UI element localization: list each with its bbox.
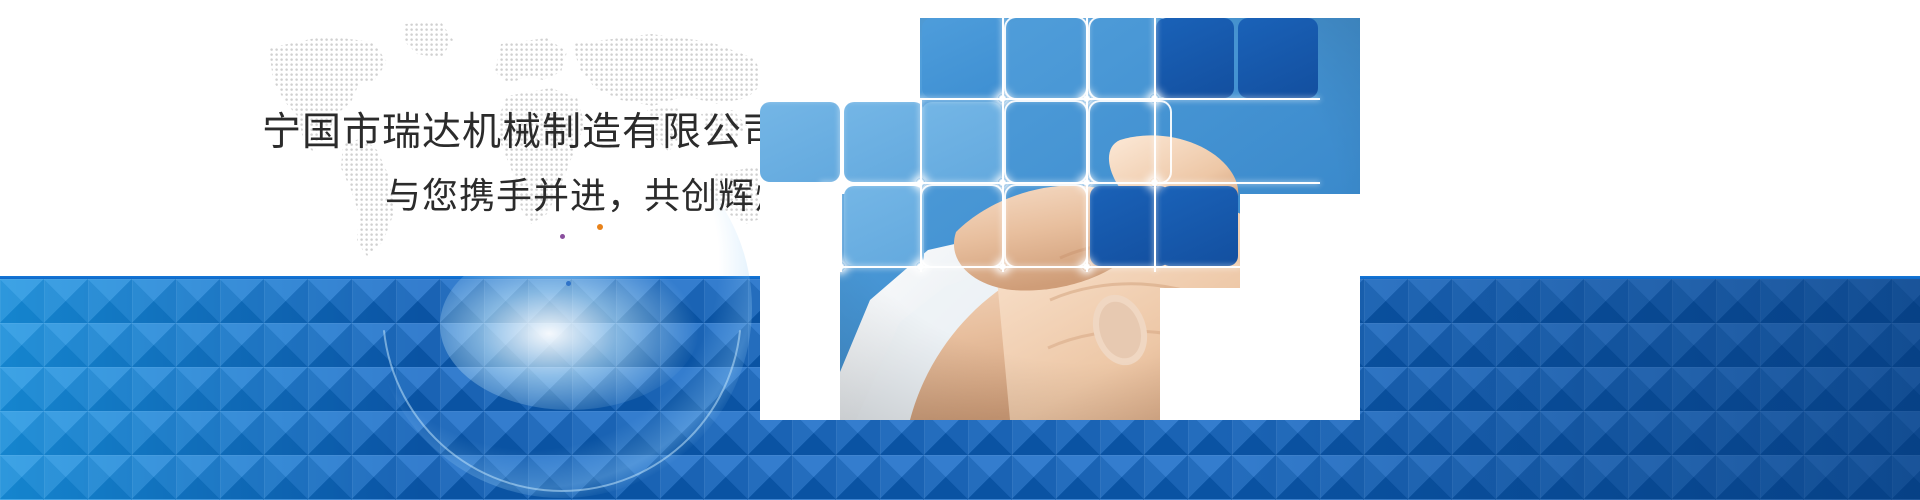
grid-node — [1082, 178, 1091, 187]
tile — [1006, 18, 1086, 98]
grid-node — [998, 178, 1007, 187]
grid-line-h — [820, 182, 1320, 184]
grid-line-h — [820, 266, 1240, 268]
grid-node — [1082, 262, 1091, 271]
grid-node — [998, 94, 1007, 103]
tile — [844, 186, 924, 266]
grid-node — [1150, 94, 1159, 103]
grid-line-v — [1086, 14, 1088, 272]
tile — [922, 18, 1002, 98]
grid-node — [836, 262, 845, 271]
tile — [1090, 186, 1170, 266]
tile — [922, 102, 1002, 182]
tile — [844, 102, 924, 182]
grid-line-h — [760, 98, 1320, 100]
tile — [1006, 186, 1086, 266]
grid-node — [998, 262, 1007, 271]
tile-grid — [760, 0, 1360, 420]
grid-line-v — [1154, 14, 1156, 272]
company-banner: 宁国市瑞达机械制造有限公司 与您携手并进，共创辉煌 — [0, 0, 1920, 500]
grid-line-v — [1002, 14, 1004, 272]
company-name-line: 宁国市瑞达机械制造有限公司 — [262, 113, 782, 152]
tile — [1090, 102, 1170, 182]
tile — [1156, 18, 1234, 98]
handshake-mosaic — [760, 0, 1360, 500]
slogan-line: 与您携手并进，共创辉煌 — [385, 178, 792, 214]
tile — [1238, 18, 1318, 98]
tile — [922, 186, 1002, 266]
grid-line-v — [840, 98, 842, 272]
tile — [1160, 186, 1238, 266]
tile — [760, 102, 840, 182]
grid-node — [916, 178, 925, 187]
tile — [1006, 102, 1086, 182]
grid-node — [916, 262, 925, 271]
grid-node — [1150, 178, 1159, 187]
grid-node — [1082, 94, 1091, 103]
accent-dot-blue — [566, 281, 571, 286]
